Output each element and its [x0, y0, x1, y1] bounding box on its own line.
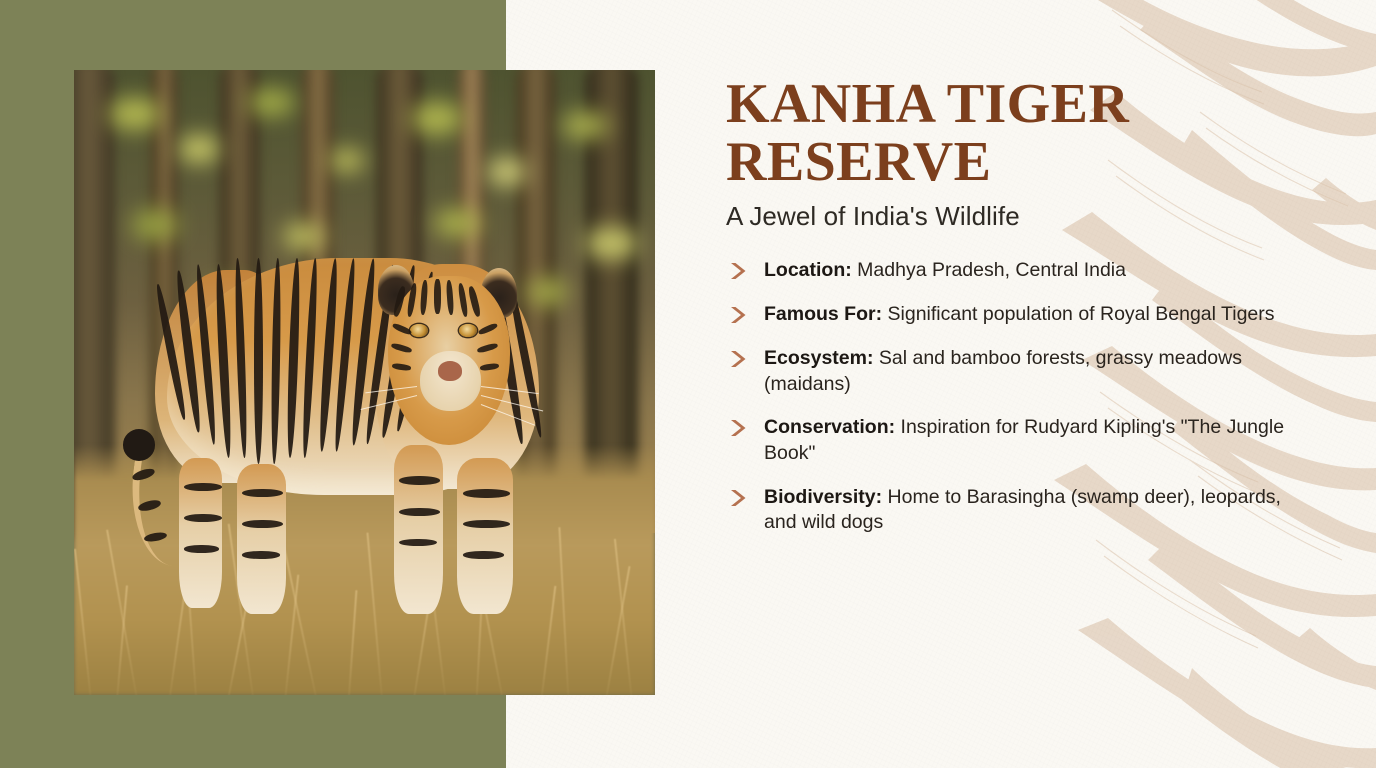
list-item-text: Significant population of Royal Bengal T… — [882, 303, 1274, 325]
list-item-label: Famous For: — [764, 303, 882, 325]
tiger-hind-leg-left — [179, 458, 223, 608]
page-title: KANHA TIGER RESERVE — [726, 0, 1246, 191]
list-item: Conservation: Inspiration for Rudyard Ki… — [726, 415, 1306, 466]
list-item: Famous For: Significant population of Ro… — [726, 302, 1306, 328]
list-item: Location: Madhya Pradesh, Central India — [726, 258, 1306, 284]
tiger-front-leg-left — [394, 445, 443, 614]
tiger-photo — [74, 70, 655, 695]
chevron-right-icon — [728, 349, 750, 369]
fact-list: Location: Madhya Pradesh, Central India … — [726, 258, 1306, 536]
list-item: Biodiversity: Home to Barasingha (swamp … — [726, 485, 1306, 536]
list-item-label: Conservation: — [764, 416, 895, 438]
tiger-eye-left — [410, 324, 428, 337]
tiger-eye-right — [459, 324, 477, 337]
chevron-right-icon — [728, 488, 750, 508]
page-subtitle: A Jewel of India's Wildlife — [726, 201, 1326, 232]
list-item: Ecosystem: Sal and bamboo forests, grass… — [726, 346, 1306, 397]
chevron-right-icon — [728, 418, 750, 438]
list-item-text: Madhya Pradesh, Central India — [852, 259, 1126, 281]
tiger-tail-tip — [123, 429, 155, 460]
tiger-hind-leg-right — [237, 464, 286, 614]
slide-root: KANHA TIGER RESERVE A Jewel of India's W… — [0, 0, 1376, 768]
text-column: KANHA TIGER RESERVE A Jewel of India's W… — [726, 0, 1326, 768]
chevron-right-icon — [728, 305, 750, 325]
tiger-front-leg-right — [457, 458, 512, 614]
tiger-nose — [438, 361, 462, 380]
chevron-right-icon — [728, 261, 750, 281]
tiger-muzzle — [420, 351, 481, 410]
list-item-label: Biodiversity: — [764, 486, 882, 508]
list-item-label: Ecosystem: — [764, 347, 873, 369]
tiger-subject — [74, 70, 655, 695]
list-item-label: Location: — [764, 259, 852, 281]
